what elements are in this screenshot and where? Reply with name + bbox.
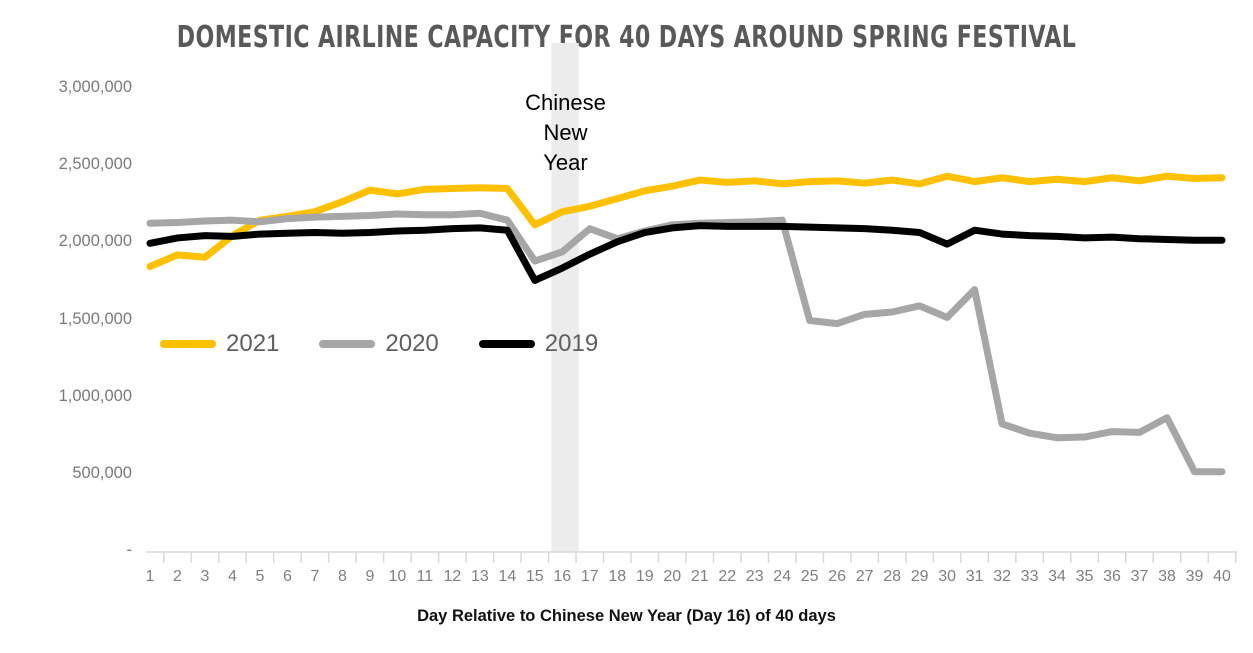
legend-item-2019[interactable]: 2019 — [479, 330, 598, 358]
axis-group — [146, 552, 1237, 563]
y-tick-label: 3,000,000 — [12, 78, 132, 97]
chart-legend: 2021 2020 2019 — [160, 330, 638, 358]
legend-item-2021[interactable]: 2021 — [160, 330, 279, 358]
legend-label-2021: 2021 — [226, 330, 279, 358]
legend-label-2020: 2020 — [385, 330, 438, 358]
chart-container: Domestic Airline Capacity for 40 Days Ar… — [0, 0, 1253, 653]
series-line-2019 — [150, 226, 1222, 281]
y-tick-label: 1,500,000 — [12, 310, 132, 329]
annotation-line-2: New — [494, 118, 637, 148]
y-tick-label: - — [12, 541, 132, 560]
series-group — [150, 176, 1222, 472]
y-tick-label: 2,000,000 — [12, 232, 132, 251]
legend-label-2019: 2019 — [545, 330, 598, 358]
annotation-line-1: Chinese — [494, 88, 637, 118]
legend-swatch-2019 — [479, 340, 535, 348]
x-axis-title: Day Relative to Chinese New Year (Day 16… — [0, 607, 1253, 626]
annotation-line-3: Year — [494, 148, 637, 178]
legend-swatch-2020 — [319, 340, 375, 348]
x-tick-label: 40 — [1206, 568, 1238, 586]
legend-item-2020[interactable]: 2020 — [319, 330, 438, 358]
legend-swatch-2021 — [160, 340, 216, 348]
chinese-new-year-annotation: Chinese New Year — [494, 88, 637, 178]
y-tick-label: 1,000,000 — [12, 387, 132, 406]
y-tick-label: 500,000 — [12, 464, 132, 483]
y-tick-label: 2,500,000 — [12, 155, 132, 174]
